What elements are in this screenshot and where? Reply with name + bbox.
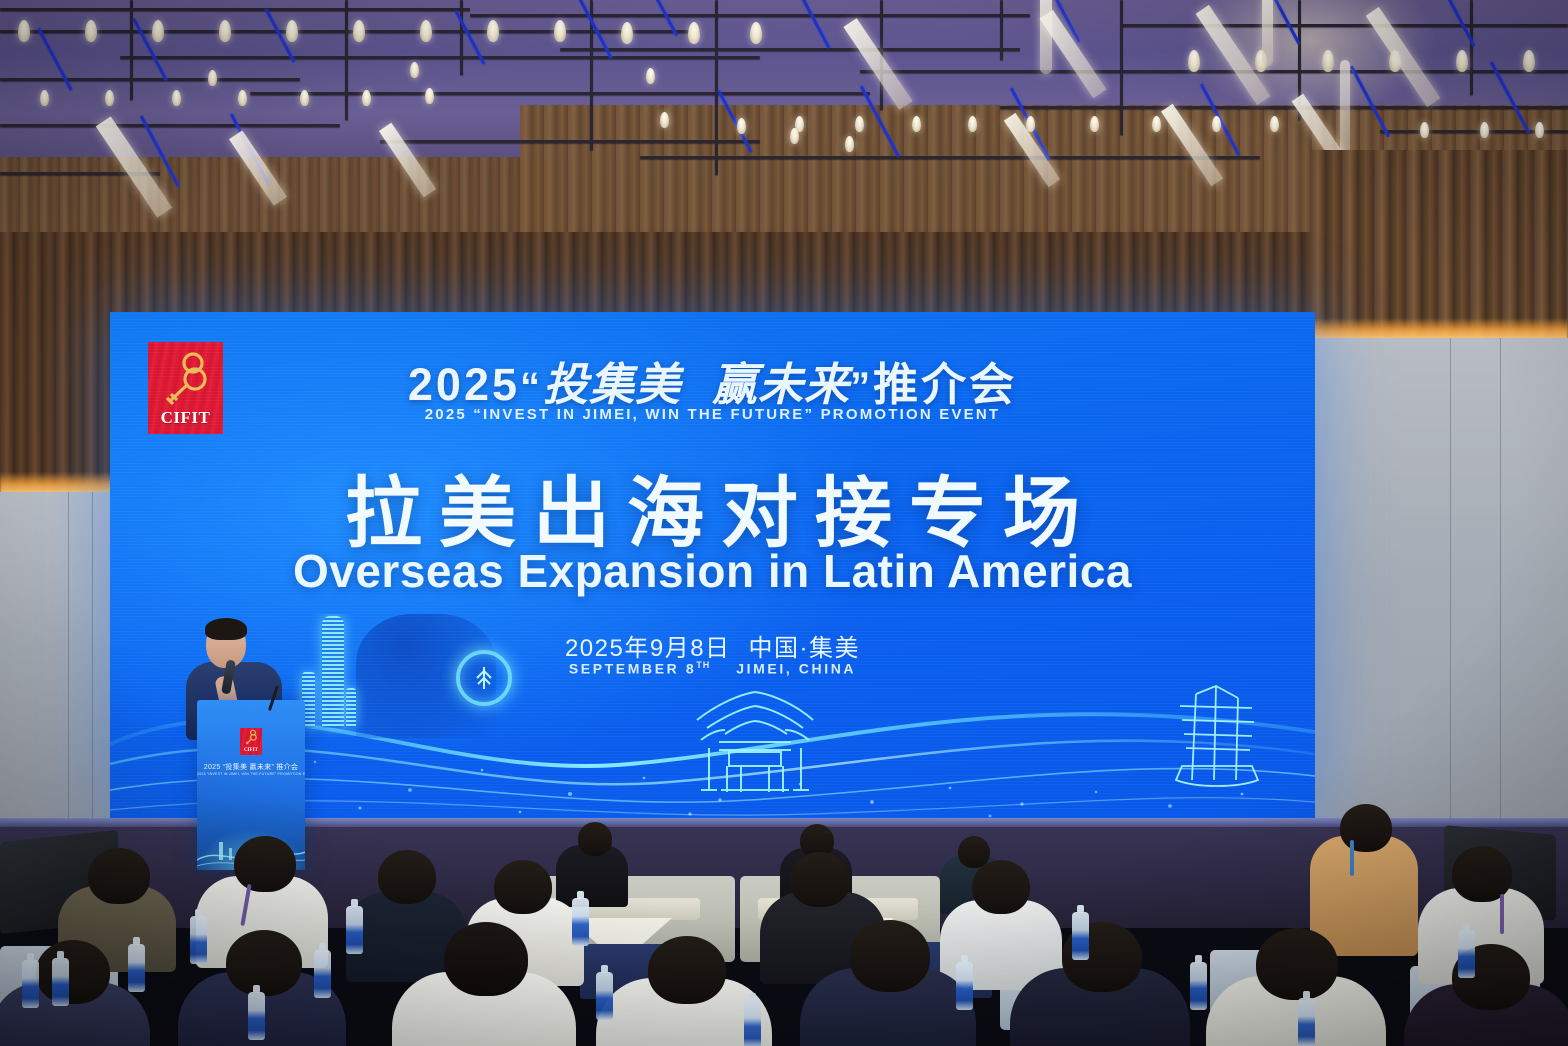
ceiling-rail-vertical (715, 0, 718, 175)
water-bottle (596, 972, 613, 1020)
chandelier-strand-icon (1262, 0, 1273, 66)
wall-panel-seam (1500, 338, 1501, 868)
pendant-bulb-icon (286, 20, 298, 42)
water-bottle (52, 958, 69, 1006)
podium-cifit-logo: CIFIT (240, 728, 262, 755)
header-suffix: 推介会 (873, 359, 1017, 410)
water-bottle (1190, 962, 1207, 1010)
wall-panel-seam (1450, 338, 1451, 868)
ceiling-rail (380, 140, 760, 143)
chandelier-diagonal-icon (843, 18, 912, 110)
pendant-bulb-icon (208, 70, 217, 86)
audience-person-head (850, 920, 930, 992)
audience-person-head (1256, 928, 1338, 1000)
podium-text-english: 2025 “INVEST IN JIMEI, WIN THE FUTURE” P… (197, 772, 305, 776)
water-bottle (956, 962, 973, 1010)
pendant-bulb-icon (1322, 50, 1334, 72)
ceiling-rail-vertical (345, 0, 348, 120)
ceiling-rail (250, 92, 870, 95)
circular-emblem-icon (456, 650, 512, 706)
audience-person-head (226, 930, 302, 996)
pendant-bulb-icon (238, 90, 247, 106)
pendant-bulb-icon (487, 20, 499, 42)
pendant-bulb-icon (420, 20, 432, 42)
water-bottle (572, 898, 589, 946)
speaker-hair (205, 618, 247, 640)
water-bottle (22, 960, 39, 1008)
pendant-bulb-icon (353, 20, 365, 42)
pendant-bulb-icon (152, 20, 164, 42)
ceiling-rail-vertical (1120, 0, 1123, 135)
pendant-bulb-icon (968, 116, 977, 132)
ceiling-blue-strut (37, 28, 73, 91)
pendant-bulb-icon (855, 116, 864, 132)
screen-title-english: Overseas Expansion in Latin America (110, 544, 1315, 598)
ceiling-rail-vertical (1000, 0, 1003, 60)
pendant-bulb-icon (410, 62, 419, 78)
pendant-bulb-icon (688, 22, 700, 44)
pendant-bulb-icon (554, 20, 566, 42)
header-quote-close: ” (850, 365, 873, 409)
pendant-bulb-icon (660, 112, 669, 128)
water-bottle (128, 944, 145, 992)
audience-person-head (972, 860, 1030, 914)
pendant-bulb-icon (621, 22, 633, 44)
water-bottle (744, 1000, 761, 1046)
water-bottle (346, 906, 363, 954)
pendant-bulb-icon (1188, 50, 1200, 72)
pendant-bulb-icon (425, 88, 434, 104)
pendant-bulb-icon (1270, 116, 1279, 132)
pendant-bulb-icon (40, 90, 49, 106)
ceiling-rail (0, 78, 300, 81)
audience-person-head (234, 836, 296, 892)
audience-person-head (88, 848, 150, 904)
pendant-bulb-icon (219, 20, 231, 42)
wall-panel-left (0, 492, 112, 852)
audience-person-head (36, 940, 110, 1004)
audience-lanyard (1350, 840, 1354, 876)
audience-person-head (648, 936, 726, 1004)
pendant-bulb-icon (1523, 50, 1535, 72)
header-quote-open: “ (520, 365, 543, 409)
water-bottle (314, 950, 331, 998)
pendant-bulb-icon (1090, 116, 1099, 132)
water-bottle (1458, 930, 1475, 978)
wall-panel-seam (68, 492, 69, 847)
audience-person-head (1340, 804, 1392, 852)
water-bottle (1298, 998, 1315, 1046)
ceiling-rail (0, 124, 340, 127)
pendant-bulb-icon (750, 22, 762, 44)
ceiling-rail (560, 48, 1020, 51)
audience-person-head (790, 852, 850, 907)
ceiling-rail (1000, 106, 1568, 109)
pendant-bulb-icon (1456, 50, 1468, 72)
pendant-bulb-icon (105, 90, 114, 106)
pendant-bulb-icon (845, 136, 854, 152)
pendant-bulb-icon (172, 90, 181, 106)
pendant-bulb-icon (1152, 116, 1161, 132)
pendant-bulb-icon (646, 68, 655, 84)
audience-person-head (444, 922, 528, 996)
header-phrase-b: 赢未来 (712, 360, 850, 410)
podium-text-chinese: 2025 “投集美 赢未来” 推介会 (197, 762, 305, 772)
audience-person-head (494, 860, 552, 914)
ceiling-blue-strut (800, 0, 831, 49)
pendant-bulb-icon (737, 118, 746, 134)
pendant-bulb-icon (790, 128, 799, 144)
ceiling-rail-vertical (130, 0, 133, 100)
ceiling-rail (1120, 24, 1568, 27)
pendant-bulb-icon (1212, 116, 1221, 132)
water-bottle (190, 916, 207, 964)
wall-light-strip-right (1310, 318, 1568, 340)
ceiling-rail-vertical (1470, 0, 1473, 95)
water-bottle (1072, 912, 1089, 960)
podium-logo-word: CIFIT (244, 747, 258, 755)
screen-header-chinese: 2025“投集美 赢未来”推介会 (110, 348, 1315, 413)
pendant-bulb-icon (1420, 122, 1429, 138)
ceiling-rail (640, 156, 1260, 159)
ceiling-rail (120, 56, 760, 59)
water-bottle (248, 992, 265, 1040)
ceiling-rail (470, 14, 1030, 17)
pendant-bulb-icon (18, 20, 30, 42)
wall-panel-right (1310, 338, 1568, 873)
pendant-bulb-icon (362, 90, 371, 106)
pendant-bulb-icon (300, 90, 309, 106)
pendant-bulb-icon (1535, 122, 1544, 138)
header-year: 2025 (408, 359, 520, 410)
screen-header-english: 2025 “INVEST IN JIMEI, WIN THE FUTURE” P… (110, 406, 1315, 423)
stage-seated-person-head (578, 822, 612, 856)
pendant-bulb-icon (85, 20, 97, 42)
ceiling-rail (0, 8, 470, 11)
screenshot-root: CIFIT 2025“投集美 赢未来”推介会 2025 “INVEST IN J… (0, 0, 1568, 1046)
ceiling-rail-vertical (460, 0, 463, 75)
pendant-bulb-icon (912, 116, 921, 132)
audience-lanyard (1500, 894, 1504, 934)
audience-person-head (378, 850, 436, 904)
header-phrase-a: 投集美 (543, 360, 681, 410)
wall-panel-seam (92, 492, 93, 847)
pendant-bulb-icon (1480, 122, 1489, 138)
